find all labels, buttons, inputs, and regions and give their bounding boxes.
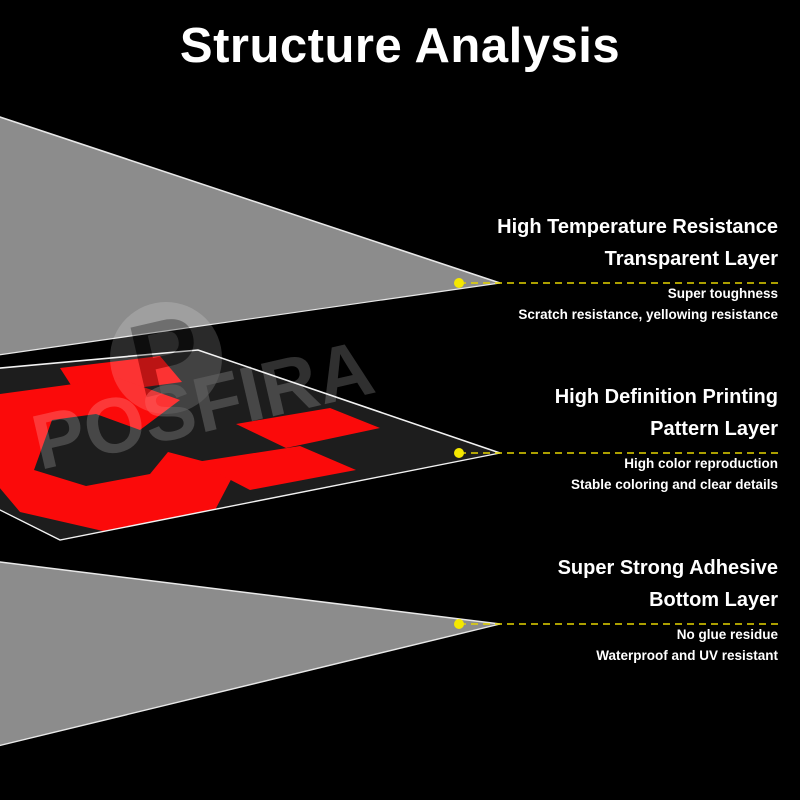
callout-heading-primary: Super Strong Adhesive [348,552,778,584]
structure-analysis-diagram: Structure Analysis [0,0,800,800]
callout-bottom-layer: Super Strong Adhesive Bottom Layer No gl… [348,552,778,667]
callout-detail-first: Super toughness [348,283,778,305]
callout-heading-secondary: Transparent Layer [348,243,778,275]
callout-detail-first: No glue residue [348,624,778,646]
callout-detail-second: Stable coloring and clear details [348,474,778,496]
callout-transparent-layer: High Temperature Resistance Transparent … [348,211,778,326]
callout-details: Super toughness Scratch resistance, yell… [348,283,778,326]
callout-detail-second: Scratch resistance, yellowing resistance [348,304,778,326]
callout-heading-primary: High Temperature Resistance [348,211,778,243]
callout-heading-primary: High Definition Printing [348,381,778,413]
callout-detail-second: Waterproof and UV resistant [348,645,778,667]
callout-heading-secondary: Bottom Layer [348,584,778,616]
callout-detail-first: High color reproduction [348,453,778,475]
callout-details: No glue residue Waterproof and UV resist… [348,624,778,667]
callout-details: High color reproduction Stable coloring … [348,453,778,496]
callout-heading-secondary: Pattern Layer [348,413,778,445]
callout-pattern-layer: High Definition Printing Pattern Layer H… [348,381,778,496]
